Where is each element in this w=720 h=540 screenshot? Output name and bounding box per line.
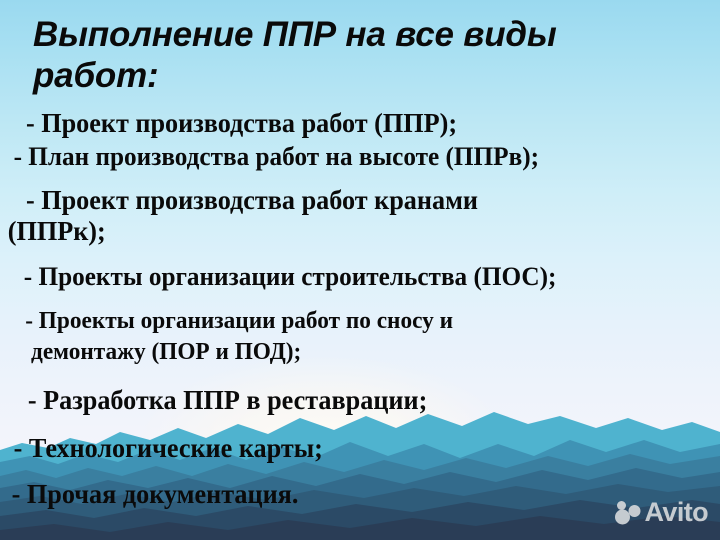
avito-dots-icon (615, 501, 641, 525)
list-item: - Проекты организации работ по сносу и (0, 306, 698, 337)
avito-brand-text: Avito (645, 499, 709, 526)
slide-canvas: Выполнение ППР на все виды работ: - Прое… (0, 0, 720, 540)
list-item: - Прочая документация. (0, 479, 698, 510)
list-item: - Технологические карты; (0, 433, 698, 464)
list-item: - Проекты организации строительства (ПОС… (0, 261, 698, 292)
list-item: - Разработка ППР в реставрации; (0, 385, 698, 416)
list-item: - Проект производства работ (ППР); (0, 108, 698, 139)
list-item: - План производства работ на высоте (ППР… (0, 141, 698, 172)
list-item: - Проект производства работ кранами (0, 185, 698, 216)
list-item-continuation: (ППРк); (0, 216, 698, 247)
avito-watermark: Avito (615, 499, 709, 526)
list-item-continuation: демонтажу (ПОР и ПОД); (0, 337, 698, 368)
bullet-list: - Проект производства работ (ППР); - Пла… (0, 108, 720, 510)
page-title: Выполнение ППР на все виды работ: (33, 14, 673, 97)
